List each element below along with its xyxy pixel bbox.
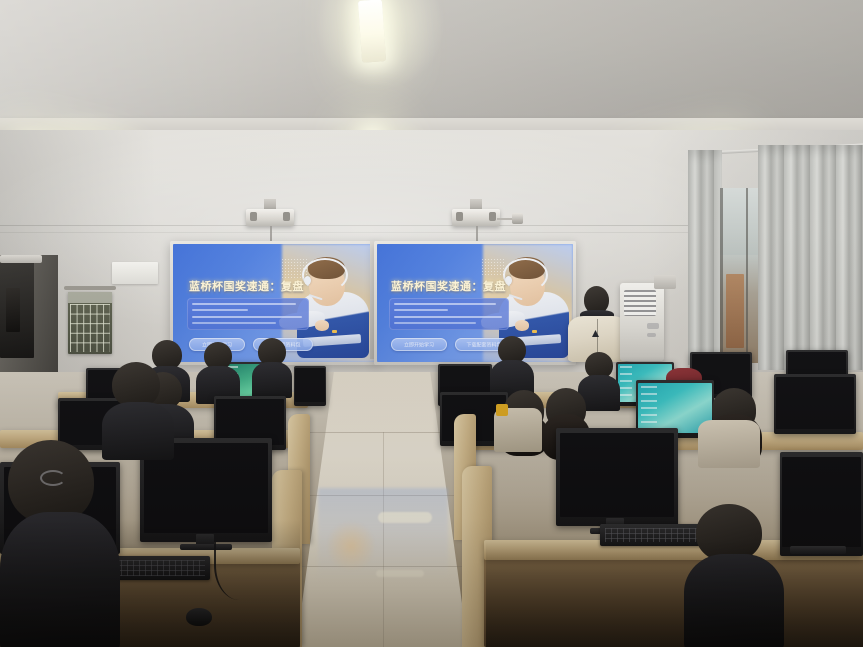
yellow-item xyxy=(496,404,508,416)
wall-bracket xyxy=(654,275,676,289)
projector-lens xyxy=(283,212,290,221)
monitor-screen xyxy=(560,433,675,517)
right-screen-surface: 蓝桥杯国奖速通：复盘 立即开始学习 下载配套资料包 xyxy=(377,244,573,362)
operator-headset-band xyxy=(302,258,348,292)
aisle-tile-line xyxy=(310,432,454,433)
eyeglasses xyxy=(40,470,66,486)
monitor-front-3 xyxy=(556,428,678,526)
student-torso xyxy=(102,402,174,460)
slide-body-line xyxy=(394,316,502,318)
wall-calendar xyxy=(68,292,112,354)
student-torso xyxy=(0,512,120,647)
window-mullion xyxy=(746,188,748,363)
monitor-mid-5 xyxy=(774,374,856,434)
ceiling-shading xyxy=(0,0,863,132)
projector-lens xyxy=(250,212,257,221)
window-mullion xyxy=(720,188,723,363)
calendar-grid xyxy=(70,304,110,352)
monitor-back-3 xyxy=(294,366,326,406)
slide-body-line xyxy=(394,322,476,324)
slide-button-primary-label: 立即开始学习 xyxy=(391,341,447,348)
door-lintel xyxy=(0,255,42,263)
projector-lens xyxy=(456,212,463,221)
monitor-screen xyxy=(782,457,860,546)
slide-dot-decoration xyxy=(481,258,505,276)
monitor-screen xyxy=(776,377,853,429)
slide-title: 蓝桥杯国奖速通：复盘 xyxy=(391,278,506,294)
operator-hand xyxy=(315,320,329,331)
slide-body-box xyxy=(187,298,309,330)
projector-lens xyxy=(489,212,496,221)
student-front-3 xyxy=(684,504,784,647)
aircon-button[interactable] xyxy=(647,333,656,337)
projector-right xyxy=(452,199,500,247)
mouse-front-1[interactable] xyxy=(186,608,212,626)
slide-body-line xyxy=(192,309,248,311)
student-back-3 xyxy=(252,338,292,396)
reflection-text xyxy=(376,570,424,577)
student-torso xyxy=(252,362,292,398)
aircon-vent xyxy=(624,290,656,316)
operator-headset-earcup xyxy=(505,276,512,285)
slide-body-line xyxy=(394,309,448,311)
operator-badge xyxy=(332,330,337,333)
desk-row-front-right xyxy=(484,556,863,647)
wall-notice xyxy=(112,262,158,284)
aircon-display xyxy=(647,323,658,329)
air-conditioner[interactable] xyxy=(620,283,664,361)
door-panel xyxy=(6,288,20,332)
classroom-photo-scene: 蓝桥杯国奖速通：复盘 立即开始学习 下载配套资料包 xyxy=(0,0,863,647)
calendar-header xyxy=(68,292,112,303)
slide-button-primary[interactable]: 立即开始学习 xyxy=(391,338,447,351)
exterior-building xyxy=(726,274,744,348)
ceiling-light-1 xyxy=(358,0,386,63)
slide-body-line xyxy=(192,322,276,324)
slide-body-line xyxy=(192,303,296,305)
student-mid-4-jacket xyxy=(698,420,760,468)
student-torso xyxy=(684,554,784,647)
projector-left xyxy=(246,199,294,247)
monitor-base xyxy=(790,546,846,554)
operator-headset-band xyxy=(503,258,548,292)
calendar-hanger xyxy=(64,286,116,290)
reflection-figure xyxy=(328,518,374,574)
monitor-front-4 xyxy=(780,452,863,556)
monitor-screen xyxy=(295,368,325,402)
slide-body-line xyxy=(394,303,496,305)
curtain-right-panel[interactable] xyxy=(758,145,863,370)
student-front-2 xyxy=(102,362,174,454)
desktop-icons xyxy=(620,366,632,396)
slide-body-box xyxy=(389,298,509,330)
reflection-button xyxy=(378,512,432,523)
right-projection-screen[interactable]: 蓝桥杯国奖速通：复盘 立即开始学习 下载配套资料包 xyxy=(374,241,576,365)
slide-body-line xyxy=(192,316,302,318)
projector-camera xyxy=(512,213,523,224)
operator-badge xyxy=(532,330,537,333)
projector-arm xyxy=(497,218,513,220)
slide-dot-decoration xyxy=(281,258,307,278)
slide-title: 蓝桥杯国奖速通：复盘 xyxy=(189,278,304,294)
student-back-2 xyxy=(196,342,240,402)
desktop-icons xyxy=(641,386,657,426)
curtain-left-panel[interactable] xyxy=(688,150,722,365)
operator-hand xyxy=(515,320,529,331)
